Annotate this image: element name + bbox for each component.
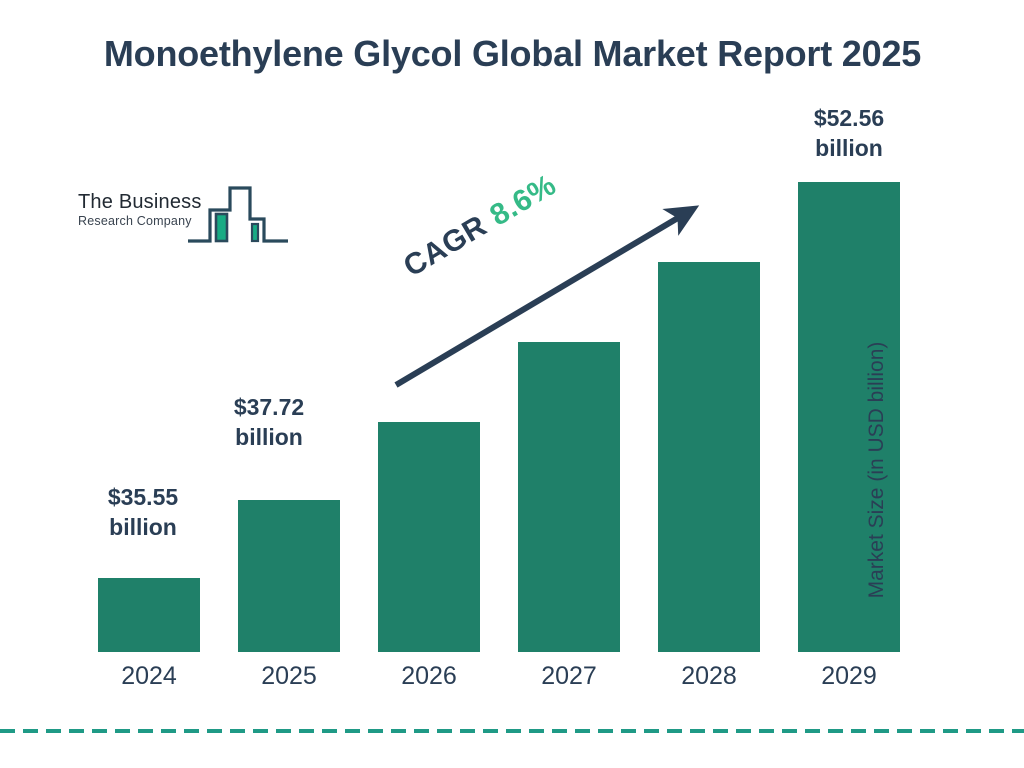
bar-chart-plot-area: 2024 2025 2026 2027 2028 2029 $35.55 bil…	[0, 0, 1024, 768]
chart-canvas: Monoethylene Glycol Global Market Report…	[0, 0, 1024, 768]
footer-divider	[0, 729, 1024, 733]
y-axis-title: Market Size (in USD billion)	[865, 300, 889, 640]
